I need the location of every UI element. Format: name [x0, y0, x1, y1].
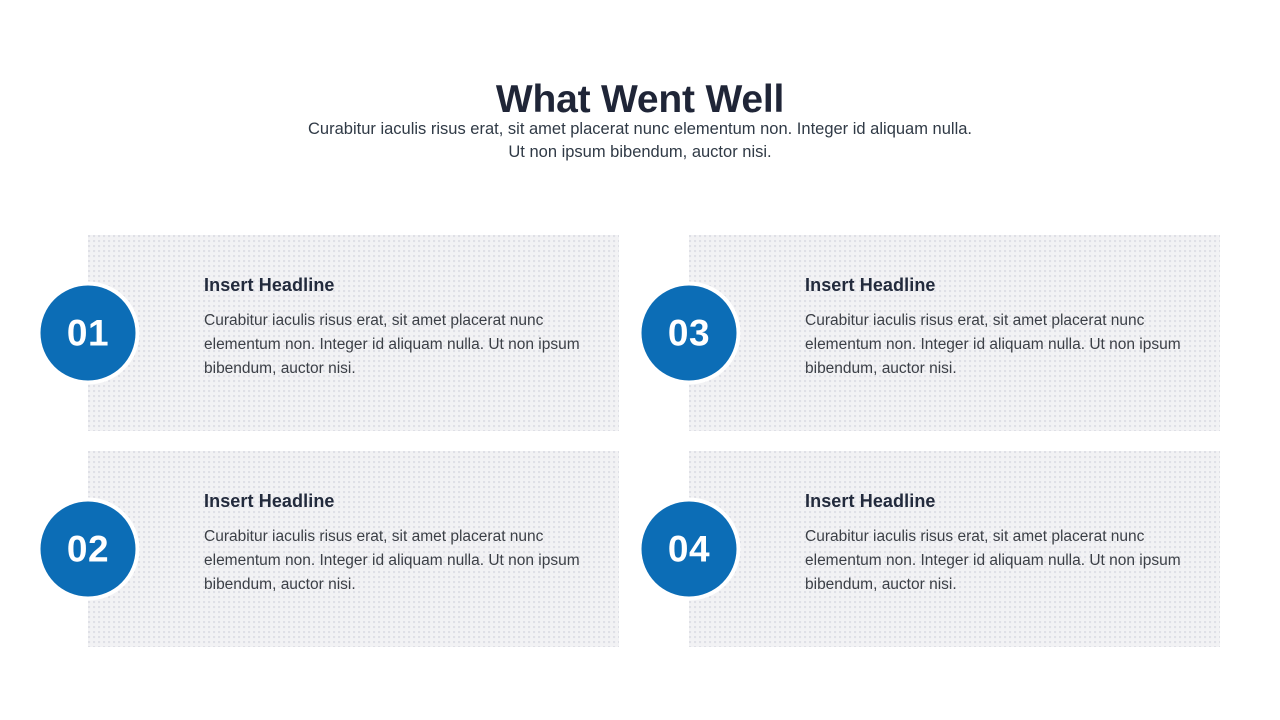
card-body-04: Insert Headline Curabitur iaculis risus …	[805, 491, 1205, 597]
card-description: Curabitur iaculis risus erat, sit amet p…	[805, 525, 1205, 598]
card-04[interactable]: 04 Insert Headline Curabitur iaculis ris…	[689, 451, 1220, 647]
number-badge-01: 01	[41, 286, 136, 381]
number-badge-04: 04	[642, 502, 737, 597]
badge-number-label: 01	[67, 315, 109, 352]
card-headline: Insert Headline	[805, 491, 1205, 513]
card-description: Curabitur iaculis risus erat, sit amet p…	[204, 309, 604, 382]
card-description: Curabitur iaculis risus erat, sit amet p…	[805, 309, 1205, 382]
card-body-03: Insert Headline Curabitur iaculis risus …	[805, 275, 1205, 381]
card-body-02: Insert Headline Curabitur iaculis risus …	[204, 491, 604, 597]
card-body-01: Insert Headline Curabitur iaculis risus …	[204, 275, 604, 381]
subtitle-line-1: Curabitur iaculis risus erat, sit amet p…	[308, 120, 972, 138]
card-01[interactable]: 01 Insert Headline Curabitur iaculis ris…	[88, 235, 619, 431]
badge-number-label: 03	[668, 315, 710, 352]
card-grid: 01 Insert Headline Curabitur iaculis ris…	[88, 235, 1220, 647]
card-02[interactable]: 02 Insert Headline Curabitur iaculis ris…	[88, 451, 619, 647]
card-headline: Insert Headline	[204, 491, 604, 513]
number-badge-02: 02	[41, 502, 136, 597]
page-title: What Went Well	[0, 78, 1280, 123]
card-description: Curabitur iaculis risus erat, sit amet p…	[204, 525, 604, 598]
slide-canvas: What Went Well Curabitur iaculis risus e…	[0, 0, 1280, 720]
badge-number-label: 02	[67, 531, 109, 568]
badge-number-label: 04	[668, 531, 710, 568]
card-headline: Insert Headline	[204, 275, 604, 297]
number-badge-03: 03	[642, 286, 737, 381]
card-03[interactable]: 03 Insert Headline Curabitur iaculis ris…	[689, 235, 1220, 431]
page-subtitle: Curabitur iaculis risus erat, sit amet p…	[240, 118, 1040, 165]
card-headline: Insert Headline	[805, 275, 1205, 297]
subtitle-line-2: Ut non ipsum bibendum, auctor nisi.	[508, 143, 771, 161]
